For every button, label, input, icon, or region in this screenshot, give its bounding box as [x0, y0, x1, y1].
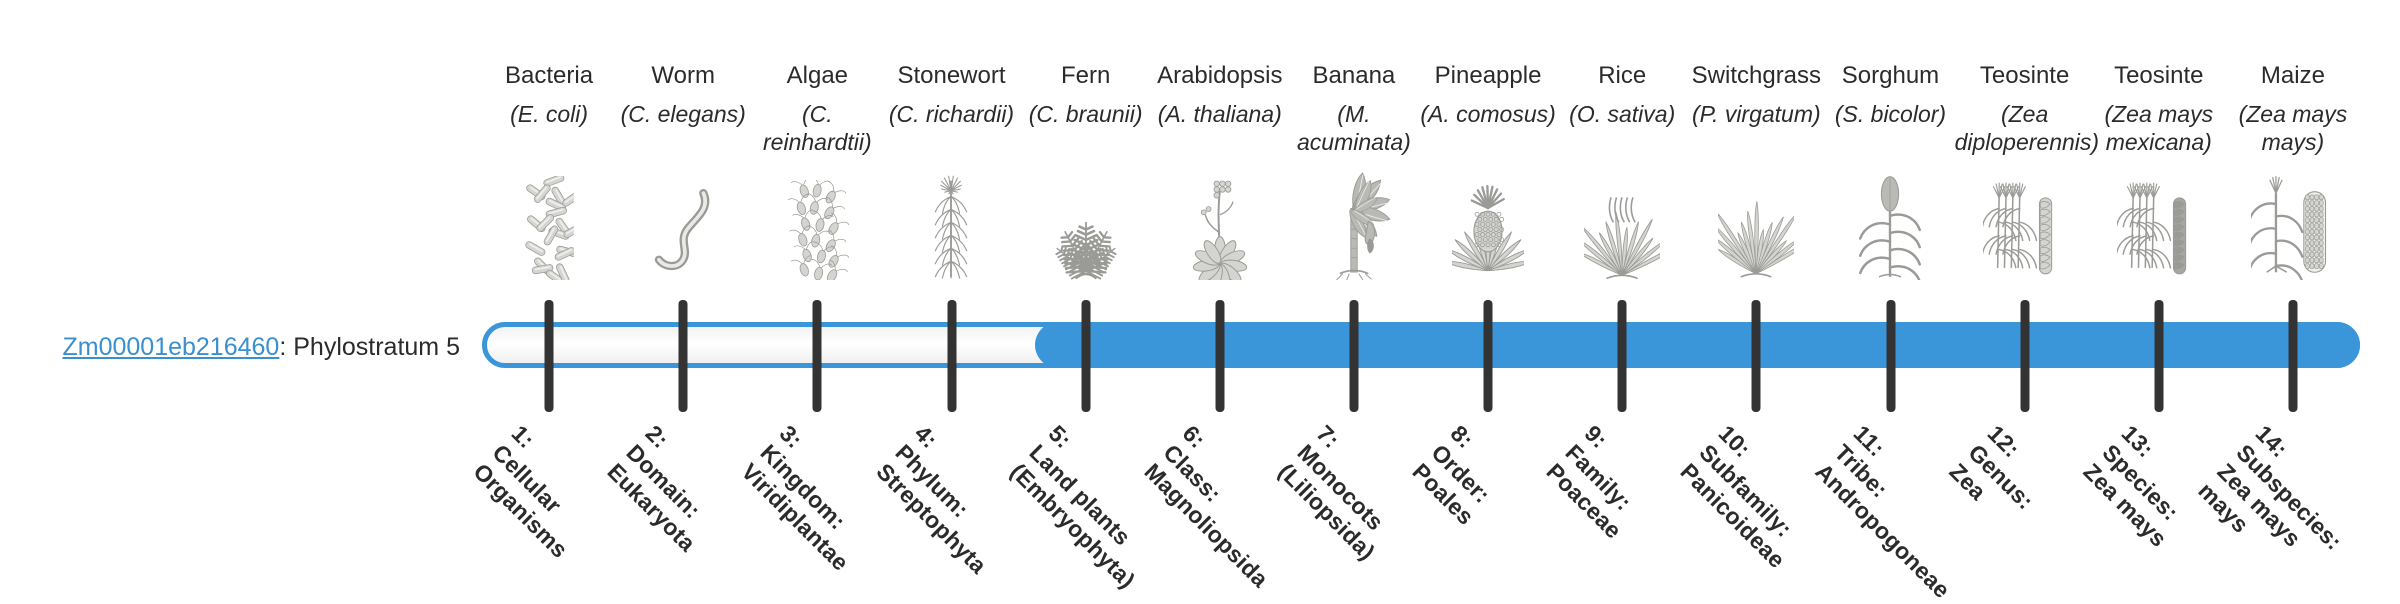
species-common-name: Bacteria [482, 62, 616, 90]
tick-mark [545, 300, 554, 412]
tick-mark [1349, 300, 1358, 412]
species-latin-name: (A. comosus) [1418, 100, 1558, 128]
tick-mark [2020, 300, 2029, 412]
arabidopsis-rosette-icon [1153, 168, 1287, 280]
pineapple-plant-icon [1421, 168, 1555, 280]
species-common-name: Pineapple [1421, 62, 1555, 90]
species-common-name: Arabidopsis [1153, 62, 1287, 90]
species-latin-name: (C. braunii) [1016, 100, 1156, 128]
species-common-name: Rice [1555, 62, 1689, 90]
species-common-name: Sorghum [1823, 62, 1957, 90]
species-latin-name: (S. bicolor) [1820, 100, 1960, 128]
fern-frond-icon [1019, 168, 1153, 280]
phylostratum-figure: Zm00001eb216460: Phylostratum 5 Bacteria… [0, 0, 2400, 580]
tick-mark [947, 300, 956, 412]
tick-mark [813, 300, 822, 412]
gene-phylostratum-label: Zm00001eb216460: Phylostratum 5 [40, 332, 460, 362]
species-common-name: Teosinte [1958, 62, 2092, 90]
species-latin-name: (Zea mays mexicana) [2089, 100, 2229, 156]
maize-plant-cob-icon [2226, 168, 2360, 280]
green-algae-cells-icon [750, 168, 884, 280]
nematode-worm-icon [616, 168, 750, 280]
tick-mark [1484, 300, 1493, 412]
stonewort-plant-icon [884, 168, 1018, 280]
species-latin-name: (Zea mays mays) [2223, 100, 2363, 156]
species-common-name: Teosinte [2092, 62, 2226, 90]
species-common-name: Fern [1019, 62, 1153, 90]
species-common-name: Banana [1287, 62, 1421, 90]
species-common-name: Maize [2226, 62, 2360, 90]
rice-grass-icon [1555, 168, 1689, 280]
tick-mark [1618, 300, 1627, 412]
tick-mark [2154, 300, 2163, 412]
species-latin-name: (A. thaliana) [1150, 100, 1290, 128]
bacteria-rods-icon [482, 168, 616, 280]
switchgrass-clump-icon [1689, 168, 1823, 280]
phylostratum-value: Phylostratum 5 [293, 333, 460, 361]
species-latin-name: (Zea diploperennis) [1955, 100, 2095, 156]
teosinte-mexicana-ear-icon [2092, 168, 2226, 280]
species-common-name: Worm [616, 62, 750, 90]
tick-mark [679, 300, 688, 412]
species-latin-name: (O. sativa) [1552, 100, 1692, 128]
banana-tree-icon [1287, 168, 1421, 280]
gene-id-link[interactable]: Zm00001eb216460 [62, 333, 279, 361]
species-latin-name: (C. richardii) [881, 100, 1021, 128]
species-latin-name: (C. reinhardtii) [747, 100, 887, 156]
tick-mark [1886, 300, 1895, 412]
gene-label-separator: : [279, 333, 293, 361]
species-latin-name: (E. coli) [479, 100, 619, 128]
species-latin-name: (M. acuminata) [1284, 100, 1424, 156]
tick-mark [1215, 300, 1224, 412]
tick-mark [1752, 300, 1761, 412]
teosinte-plant-ear-icon [1958, 168, 2092, 280]
species-latin-name: (P. virgatum) [1686, 100, 1826, 128]
species-latin-name: (C. elegans) [613, 100, 753, 128]
species-common-name: Stonewort [884, 62, 1018, 90]
tick-mark [1081, 300, 1090, 412]
species-common-name: Switchgrass [1689, 62, 1823, 90]
tick-mark [2288, 300, 2297, 412]
sorghum-panicle-icon [1823, 168, 1957, 280]
species-common-name: Algae [750, 62, 884, 90]
